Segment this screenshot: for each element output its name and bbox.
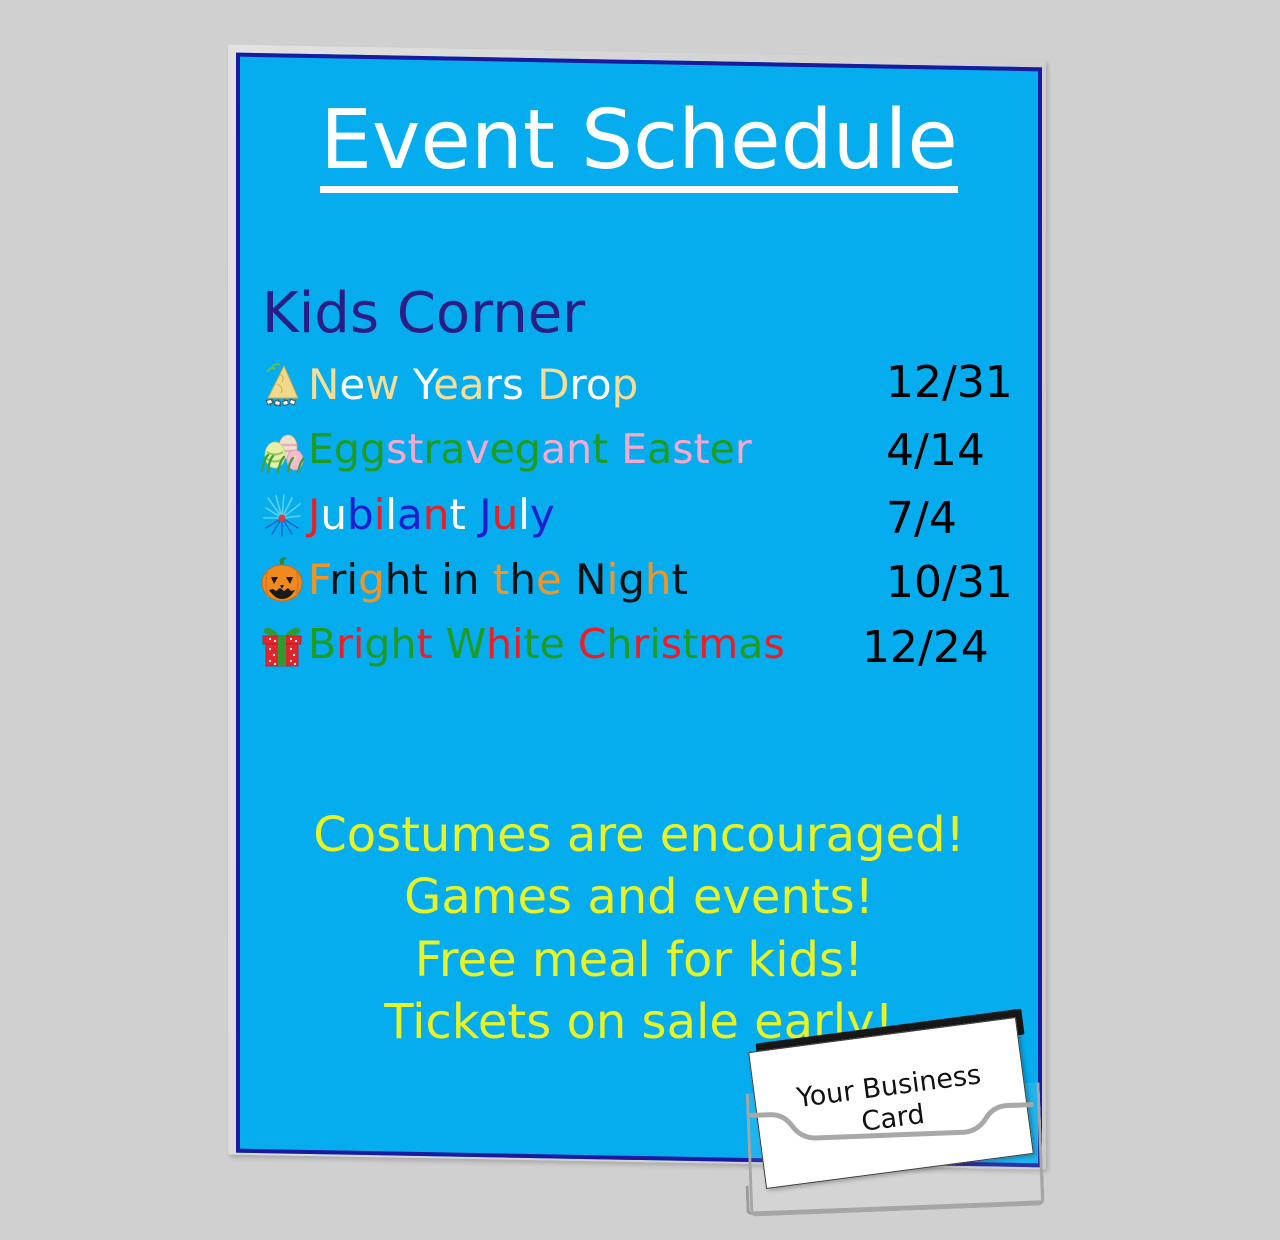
business-card-holder: Your Business Card bbox=[742, 1012, 1042, 1212]
event-row: Fright in the Night10/31 bbox=[258, 547, 1028, 612]
jack-o-lantern-icon bbox=[258, 555, 306, 605]
footer-line: Games and events! bbox=[240, 866, 1038, 928]
event-list: New Years Drop12/31 Eggstravegant Easter… bbox=[258, 352, 1028, 677]
gift-box-icon bbox=[258, 620, 306, 670]
event-date: 10/31 bbox=[886, 561, 1013, 605]
footer-line: Costumes are encouraged! bbox=[240, 804, 1038, 866]
event-left: Jubilant July bbox=[258, 490, 886, 540]
event-date: 7/4 bbox=[886, 497, 957, 541]
event-left: Bright White Christmas bbox=[258, 620, 874, 670]
easter-eggs-icon bbox=[258, 425, 306, 475]
event-left: New Years Drop bbox=[258, 360, 886, 410]
event-date: 12/31 bbox=[886, 361, 1013, 405]
event-name: Bright White Christmas bbox=[308, 624, 785, 665]
footer-line: Free meal for kids! bbox=[240, 929, 1038, 991]
section-heading-kids-corner: Kids Corner bbox=[262, 286, 585, 342]
event-name: Jubilant July bbox=[308, 494, 555, 536]
party-hat-icon bbox=[258, 360, 306, 410]
event-name: Fright in the Night bbox=[308, 559, 688, 601]
event-name: New Years Drop bbox=[308, 364, 638, 406]
event-row: Bright White Christmas12/24 bbox=[258, 612, 1028, 677]
event-date: 4/14 bbox=[886, 429, 985, 473]
event-name: Eggstravegant Easter bbox=[308, 429, 752, 470]
page-title: Event Schedule bbox=[320, 102, 958, 193]
event-schedule-sign: Event Schedule Kids Corner New Years Dro… bbox=[236, 53, 1042, 1168]
title-area: Event Schedule bbox=[240, 102, 1038, 193]
event-date: 12/24 bbox=[862, 626, 989, 670]
fireworks-icon bbox=[258, 490, 306, 540]
event-row: Eggstravegant Easter4/14 bbox=[258, 417, 1028, 482]
event-left: Fright in the Night bbox=[258, 555, 886, 605]
scene-background: Event Schedule Kids Corner New Years Dro… bbox=[0, 0, 1280, 1240]
event-left: Eggstravegant Easter bbox=[258, 425, 886, 475]
event-row: New Years Drop12/31 bbox=[258, 352, 1028, 417]
event-row: Jubilant July7/4 bbox=[258, 482, 1028, 547]
